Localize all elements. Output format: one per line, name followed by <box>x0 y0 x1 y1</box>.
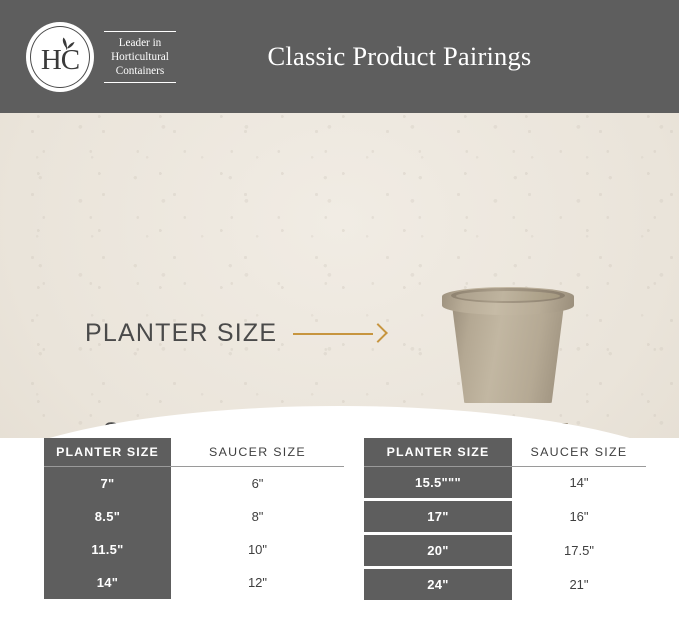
tagline-line-3: Containers <box>106 64 174 78</box>
planter-size-label: PLANTER SIZE <box>85 319 277 348</box>
table-row: 8.5" 8" <box>44 500 344 533</box>
column-header-planter-size: PLANTER SIZE <box>364 438 512 466</box>
tagline-line-1: Leader in <box>106 36 174 50</box>
cell-saucer-size: 16" <box>512 501 646 532</box>
size-table-large: PLANTER SIZE SAUCER SIZE 15.5""" 14" 17"… <box>364 438 646 603</box>
cell-planter-size: 8.5" <box>44 500 171 533</box>
cell-saucer-size: 10" <box>171 533 344 566</box>
table-header-row: PLANTER SIZE SAUCER SIZE <box>44 438 344 466</box>
cell-planter-size: 14" <box>44 566 171 599</box>
cell-planter-size: 24" <box>364 569 512 600</box>
table-row: 15.5""" 14" <box>364 467 646 498</box>
table-row: 20" 17.5" <box>364 535 646 566</box>
hc-logo-badge: HC <box>26 22 94 92</box>
table-body: 7" 6" 8.5" 8" 11.5" 10" 14" 12" <box>44 467 344 599</box>
cell-saucer-size: 12" <box>171 566 344 599</box>
table-body: 15.5""" 14" 17" 16" 20" 17.5" 24" 21" <box>364 467 646 600</box>
page-header: HC Leader in Horticultural Containers Cl… <box>0 0 679 113</box>
arrow-head <box>368 323 388 343</box>
right-arrow-icon <box>293 323 385 345</box>
brand-logo: HC Leader in Horticultural Containers <box>26 22 176 92</box>
pot-body <box>452 305 564 403</box>
arrow-shaft <box>293 333 373 335</box>
cell-saucer-size: 17.5" <box>512 535 646 566</box>
column-header-saucer-size: SAUCER SIZE <box>512 438 646 466</box>
table-row: 14" 12" <box>44 566 344 599</box>
table-row: 17" 16" <box>364 501 646 532</box>
cell-planter-size: 11.5" <box>44 533 171 566</box>
table-row: 24" 21" <box>364 569 646 600</box>
table-row: 11.5" 10" <box>44 533 344 566</box>
cell-saucer-size: 21" <box>512 569 646 600</box>
cell-saucer-size: 8" <box>171 500 344 533</box>
table-header-row: PLANTER SIZE SAUCER SIZE <box>364 438 646 466</box>
table-row: 7" 6" <box>44 467 344 500</box>
cell-planter-size: 7" <box>44 467 171 500</box>
tagline-line-2: Horticultural <box>106 50 174 64</box>
size-table-small: PLANTER SIZE SAUCER SIZE 7" 6" 8.5" 8" 1… <box>44 438 344 599</box>
cell-saucer-size: 6" <box>171 467 344 500</box>
pot-rim-inner-highlight <box>456 291 560 301</box>
hero-texture-background <box>0 113 679 438</box>
planter-pot-image <box>442 283 574 403</box>
logo-monogram: HC <box>41 46 79 75</box>
cell-planter-size: 15.5""" <box>364 467 512 498</box>
column-header-planter-size: PLANTER SIZE <box>44 438 171 466</box>
hero-panel: PLANTER SIZE SAUCER SIZE <box>0 113 679 438</box>
column-header-saucer-size: SAUCER SIZE <box>171 438 344 466</box>
size-tables: PLANTER SIZE SAUCER SIZE 7" 6" 8.5" 8" 1… <box>0 438 679 636</box>
planter-size-callout: PLANTER SIZE <box>85 319 385 348</box>
brand-tagline: Leader in Horticultural Containers <box>104 31 176 84</box>
cell-planter-size: 20" <box>364 535 512 566</box>
product-pairings-infographic: HC Leader in Horticultural Containers Cl… <box>0 0 679 636</box>
cell-saucer-size: 14" <box>512 467 646 498</box>
cell-planter-size: 17" <box>364 501 512 532</box>
